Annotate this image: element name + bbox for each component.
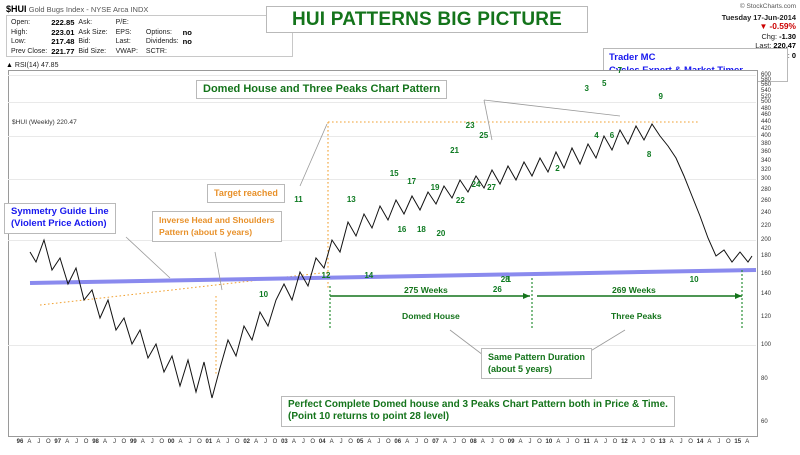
pattern-point-label: 14	[364, 271, 373, 280]
leader-target	[300, 124, 327, 186]
callout-symmetry-guide: Symmetry Guide Line (Violent Price Actio…	[4, 203, 116, 234]
pattern-point-label: 23	[466, 121, 475, 130]
symmetry-line-2: (Violent Price Action)	[11, 218, 109, 230]
pattern-point-label: 9	[659, 92, 663, 101]
ihs-line-2: Pattern (about 5 years)	[159, 226, 275, 238]
pattern-point-label: 22	[456, 196, 465, 205]
pattern-point-label: 6	[610, 131, 614, 140]
pattern-point-label: 15	[390, 169, 399, 178]
span-label-275-weeks: 275 Weeks	[404, 285, 448, 295]
leader-symmetry	[126, 237, 170, 278]
pattern-point-label: 16	[397, 225, 406, 234]
pattern-point-label: 18	[417, 225, 426, 234]
leader-domed	[484, 100, 620, 116]
price-series	[30, 124, 752, 398]
duration-line-2: (about 5 years)	[488, 363, 585, 375]
pattern-point-label: 17	[407, 177, 416, 186]
leader-ihs	[215, 252, 222, 290]
pattern-point-label: 20	[436, 229, 445, 238]
callout-bottom-summary: Perfect Complete Domed house and 3 Peaks…	[281, 396, 675, 427]
pattern-point-label: 8	[647, 150, 651, 159]
span-label-269-weeks: 269 Weeks	[612, 285, 656, 295]
span-name-three-peaks: Three Peaks	[611, 311, 662, 321]
pattern-point-label: 3	[584, 84, 588, 93]
duration-line-1: Same Pattern Duration	[488, 351, 585, 363]
pattern-point-label: 10	[690, 275, 699, 284]
callout-inverse-head-shoulders: Inverse Head and Shoulders Pattern (abou…	[152, 211, 282, 242]
pattern-point-label: 11	[294, 195, 302, 204]
chart-screenshot: $HUI Gold Bugs Index - NYSE Arca INDX Op…	[0, 0, 800, 455]
pattern-point-label: 21	[450, 146, 459, 155]
pattern-point-label: 7	[618, 66, 622, 75]
symmetry-guide-line	[30, 270, 756, 283]
span-name-domed-house: Domed House	[402, 311, 460, 321]
callout-target-reached: Target reached	[207, 184, 285, 203]
pattern-point-label: 5	[602, 79, 606, 88]
pattern-point-label: 12	[322, 271, 331, 280]
pattern-point-label: 24	[472, 180, 481, 189]
callout-domed-house-pattern: Domed House and Three Peaks Chart Patter…	[196, 80, 447, 99]
bottom-line-1: Perfect Complete Domed house and 3 Peaks…	[288, 399, 668, 411]
ihs-line-1: Inverse Head and Shoulders	[159, 214, 275, 226]
leader-duration-left	[450, 330, 483, 355]
pattern-point-label: 4	[594, 131, 598, 140]
pattern-point-label: 1	[507, 275, 511, 284]
pattern-point-label: 10	[259, 290, 268, 299]
symmetry-line-1: Symmetry Guide Line	[11, 206, 109, 218]
bottom-line-2: (Point 10 returns to point 28 level)	[288, 411, 668, 423]
pattern-point-label: 26	[493, 285, 502, 294]
pattern-point-label: 2	[555, 164, 559, 173]
pattern-point-label: 25	[479, 131, 488, 140]
pattern-point-label: 19	[431, 183, 440, 192]
callout-same-pattern-duration: Same Pattern Duration (about 5 years)	[481, 348, 592, 379]
pattern-point-label: 27	[487, 183, 496, 192]
pattern-point-label: 13	[347, 195, 356, 204]
